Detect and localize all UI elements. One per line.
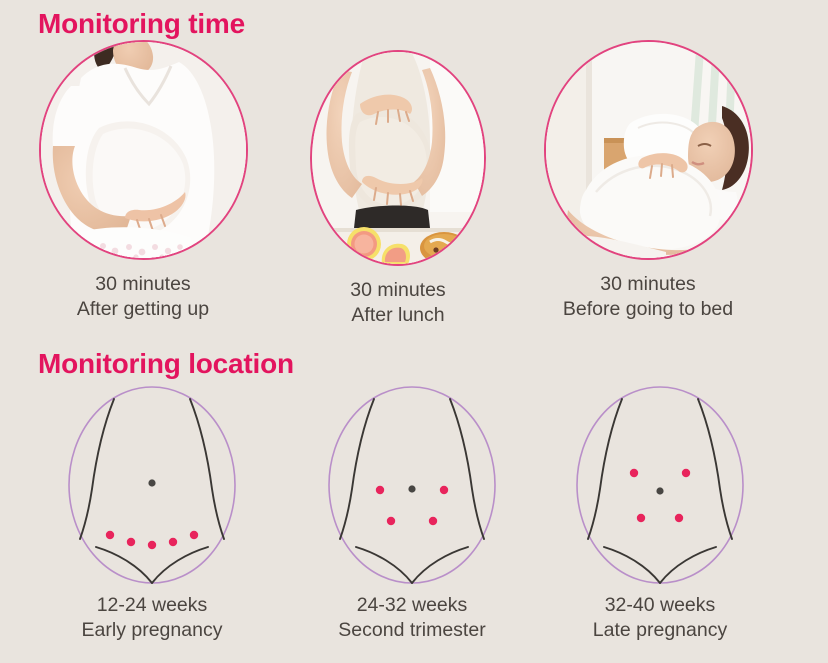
pregnant-woman-with-food-photo — [310, 50, 486, 266]
monitoring-location-card-3: 32-40 weeks Late pregnancy — [530, 385, 790, 643]
caption-line-1: 30 minutes — [525, 272, 771, 297]
abdomen-diagram-second-trimester — [312, 385, 512, 585]
monitoring-time-caption-2: 30 minutes After lunch — [275, 278, 521, 328]
monitoring-location-caption-3: 32-40 weeks Late pregnancy — [530, 593, 790, 643]
abdomen-diagram-late — [560, 385, 760, 585]
monitoring-location-row: 12-24 weeks Early pregnancy — [0, 385, 828, 663]
monitoring-time-card-1: 30 minutes After getting up — [20, 40, 266, 322]
monitoring-time-card-3: 30 minutes Before going to bed — [525, 40, 771, 322]
monitoring-time-card-2: 30 minutes After lunch — [275, 50, 521, 328]
monitoring-location-card-2: 24-32 weeks Second trimester — [282, 385, 542, 643]
pregnant-woman-standing-photo — [39, 40, 248, 260]
monitoring-time-row: 30 minutes After getting up — [0, 40, 828, 350]
caption-line-2: After lunch — [275, 303, 521, 328]
monitoring-time-caption-3: 30 minutes Before going to bed — [525, 272, 771, 322]
caption-line-1: 24-32 weeks — [282, 593, 542, 618]
caption-line-2: Early pregnancy — [22, 618, 282, 643]
caption-line-2: After getting up — [20, 297, 266, 322]
caption-line-2: Second trimester — [282, 618, 542, 643]
page-title-monitoring-location: Monitoring location — [38, 348, 294, 380]
caption-line-1: 12-24 weeks — [22, 593, 282, 618]
caption-line-2: Late pregnancy — [530, 618, 790, 643]
caption-line-1: 30 minutes — [275, 278, 521, 303]
monitoring-location-card-1: 12-24 weeks Early pregnancy — [22, 385, 282, 643]
pregnant-woman-lying-in-bed-photo — [544, 40, 753, 260]
monitoring-location-caption-1: 12-24 weeks Early pregnancy — [22, 593, 282, 643]
caption-line-1: 32-40 weeks — [530, 593, 790, 618]
caption-line-1: 30 minutes — [20, 272, 266, 297]
monitoring-time-caption-1: 30 minutes After getting up — [20, 272, 266, 322]
monitoring-location-caption-2: 24-32 weeks Second trimester — [282, 593, 542, 643]
page-title-monitoring-time: Monitoring time — [38, 8, 245, 40]
abdomen-diagram-early — [52, 385, 252, 585]
caption-line-2: Before going to bed — [525, 297, 771, 322]
